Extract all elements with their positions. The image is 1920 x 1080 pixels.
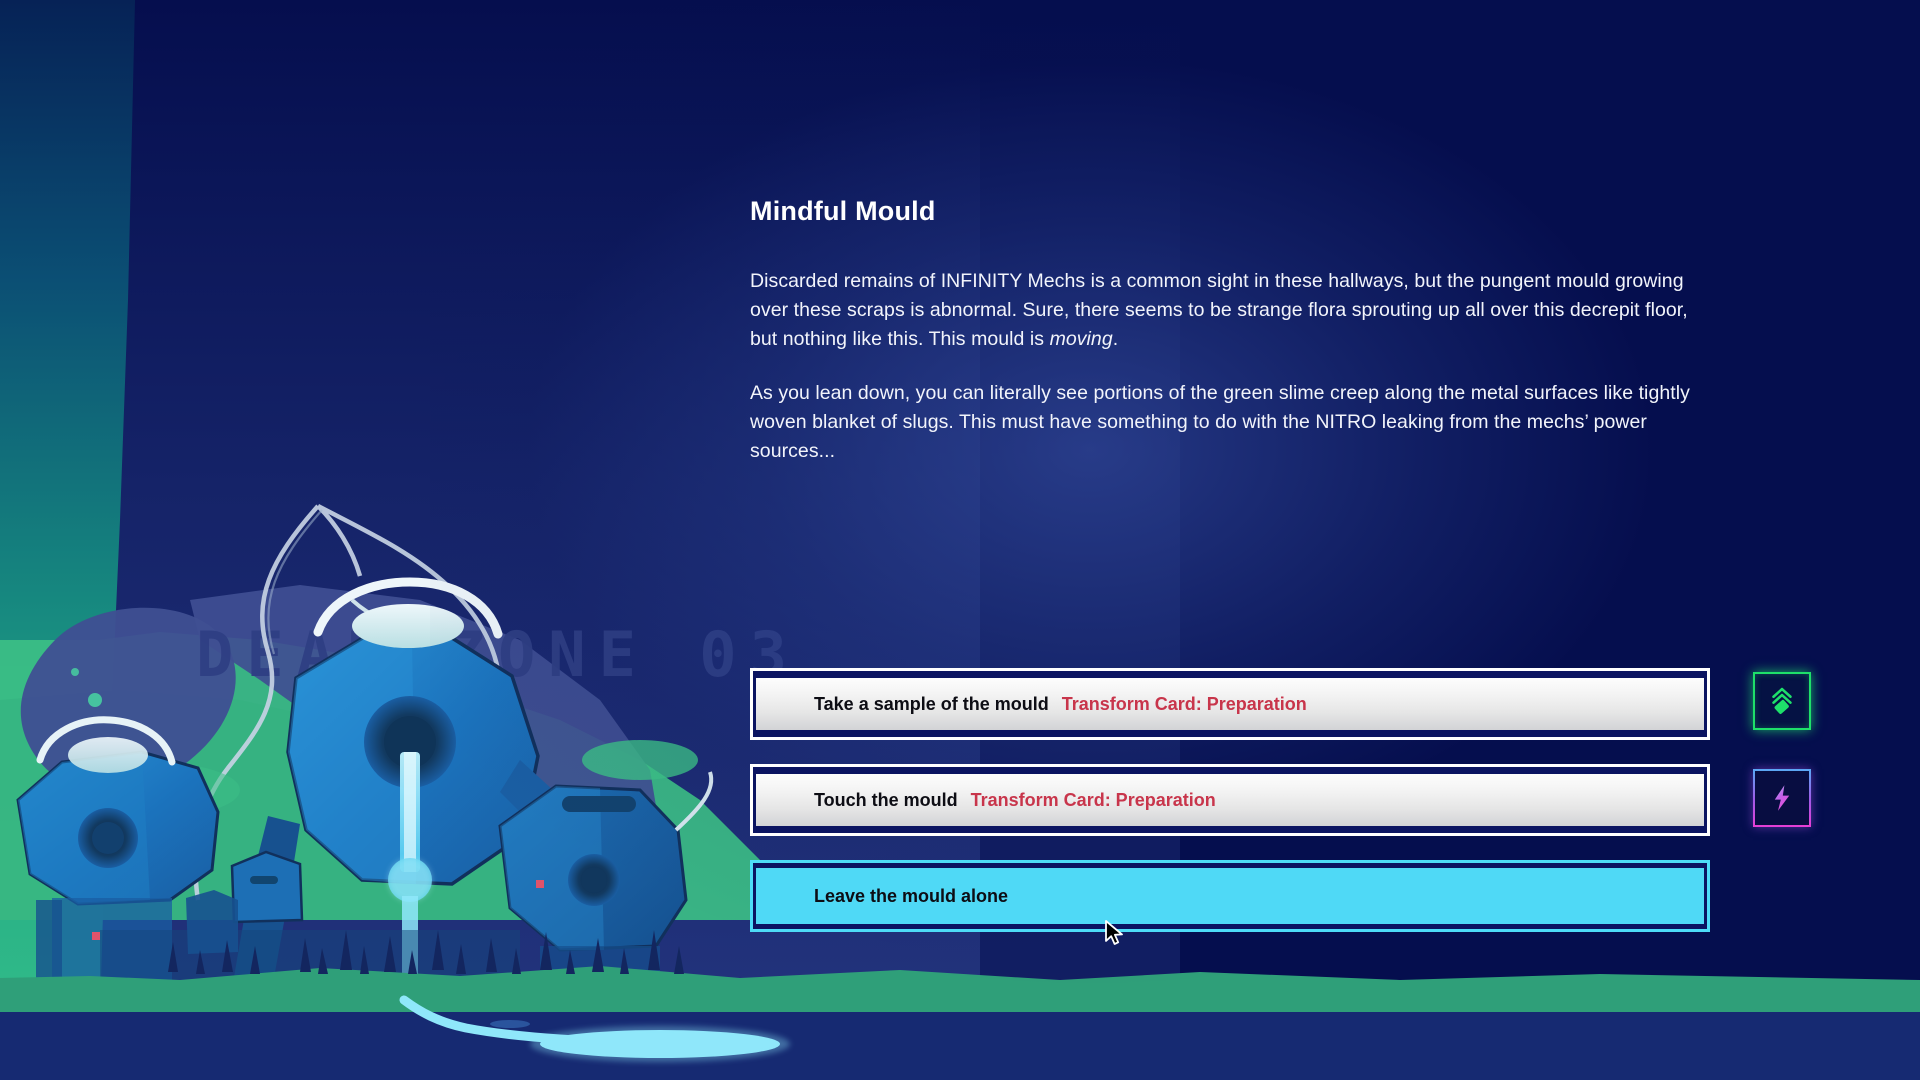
narrative-text: Discarded remains of INFINITY Mechs is a… — [750, 270, 1688, 350]
choice-button[interactable]: Take a sample of the mouldTransform Card… — [750, 668, 1710, 740]
choice-button-face[interactable]: Leave the mould alone — [756, 868, 1704, 924]
choice-button-face[interactable]: Touch the mouldTransform Card: Preparati… — [756, 774, 1704, 826]
choice-effect-tag: Transform Card: Preparation — [971, 790, 1216, 811]
narrative-body: Discarded remains of INFINITY Mechs is a… — [750, 267, 1710, 466]
narrative-panel: Mindful Mould Discarded remains of INFIN… — [750, 196, 1710, 491]
choice-label: Take a sample of the mould — [814, 694, 1049, 715]
narrative-paragraph: Discarded remains of INFINITY Mechs is a… — [750, 267, 1710, 354]
narrative-paragraph: As you lean down, you can literally see … — [750, 379, 1710, 466]
choice-button[interactable]: Touch the mouldTransform Card: Preparati… — [750, 764, 1710, 836]
choice-button-face[interactable]: Take a sample of the mouldTransform Card… — [756, 678, 1704, 730]
narrative-text: . — [1113, 328, 1118, 350]
choice-label: Leave the mould alone — [814, 886, 1008, 907]
status-icon-tray — [1753, 672, 1811, 827]
game-screen: DEAD ZONE 03 — [0, 0, 1920, 1080]
narrative-text: As you lean down, you can literally see … — [750, 382, 1690, 462]
choice-button[interactable]: Leave the mould alone — [750, 860, 1710, 932]
deck-stack-icon[interactable] — [1753, 672, 1811, 730]
page-title: Mindful Mould — [750, 196, 1710, 227]
energy-bolt-icon-glyph — [1766, 782, 1798, 814]
choice-effect-tag: Transform Card: Preparation — [1062, 694, 1307, 715]
choice-list: Take a sample of the mouldTransform Card… — [750, 668, 1710, 956]
emphasis-text: moving — [1050, 328, 1113, 350]
deck-stack-icon-glyph — [1765, 684, 1799, 718]
energy-bolt-icon[interactable] — [1753, 769, 1811, 827]
choice-label: Touch the mould — [814, 790, 958, 811]
